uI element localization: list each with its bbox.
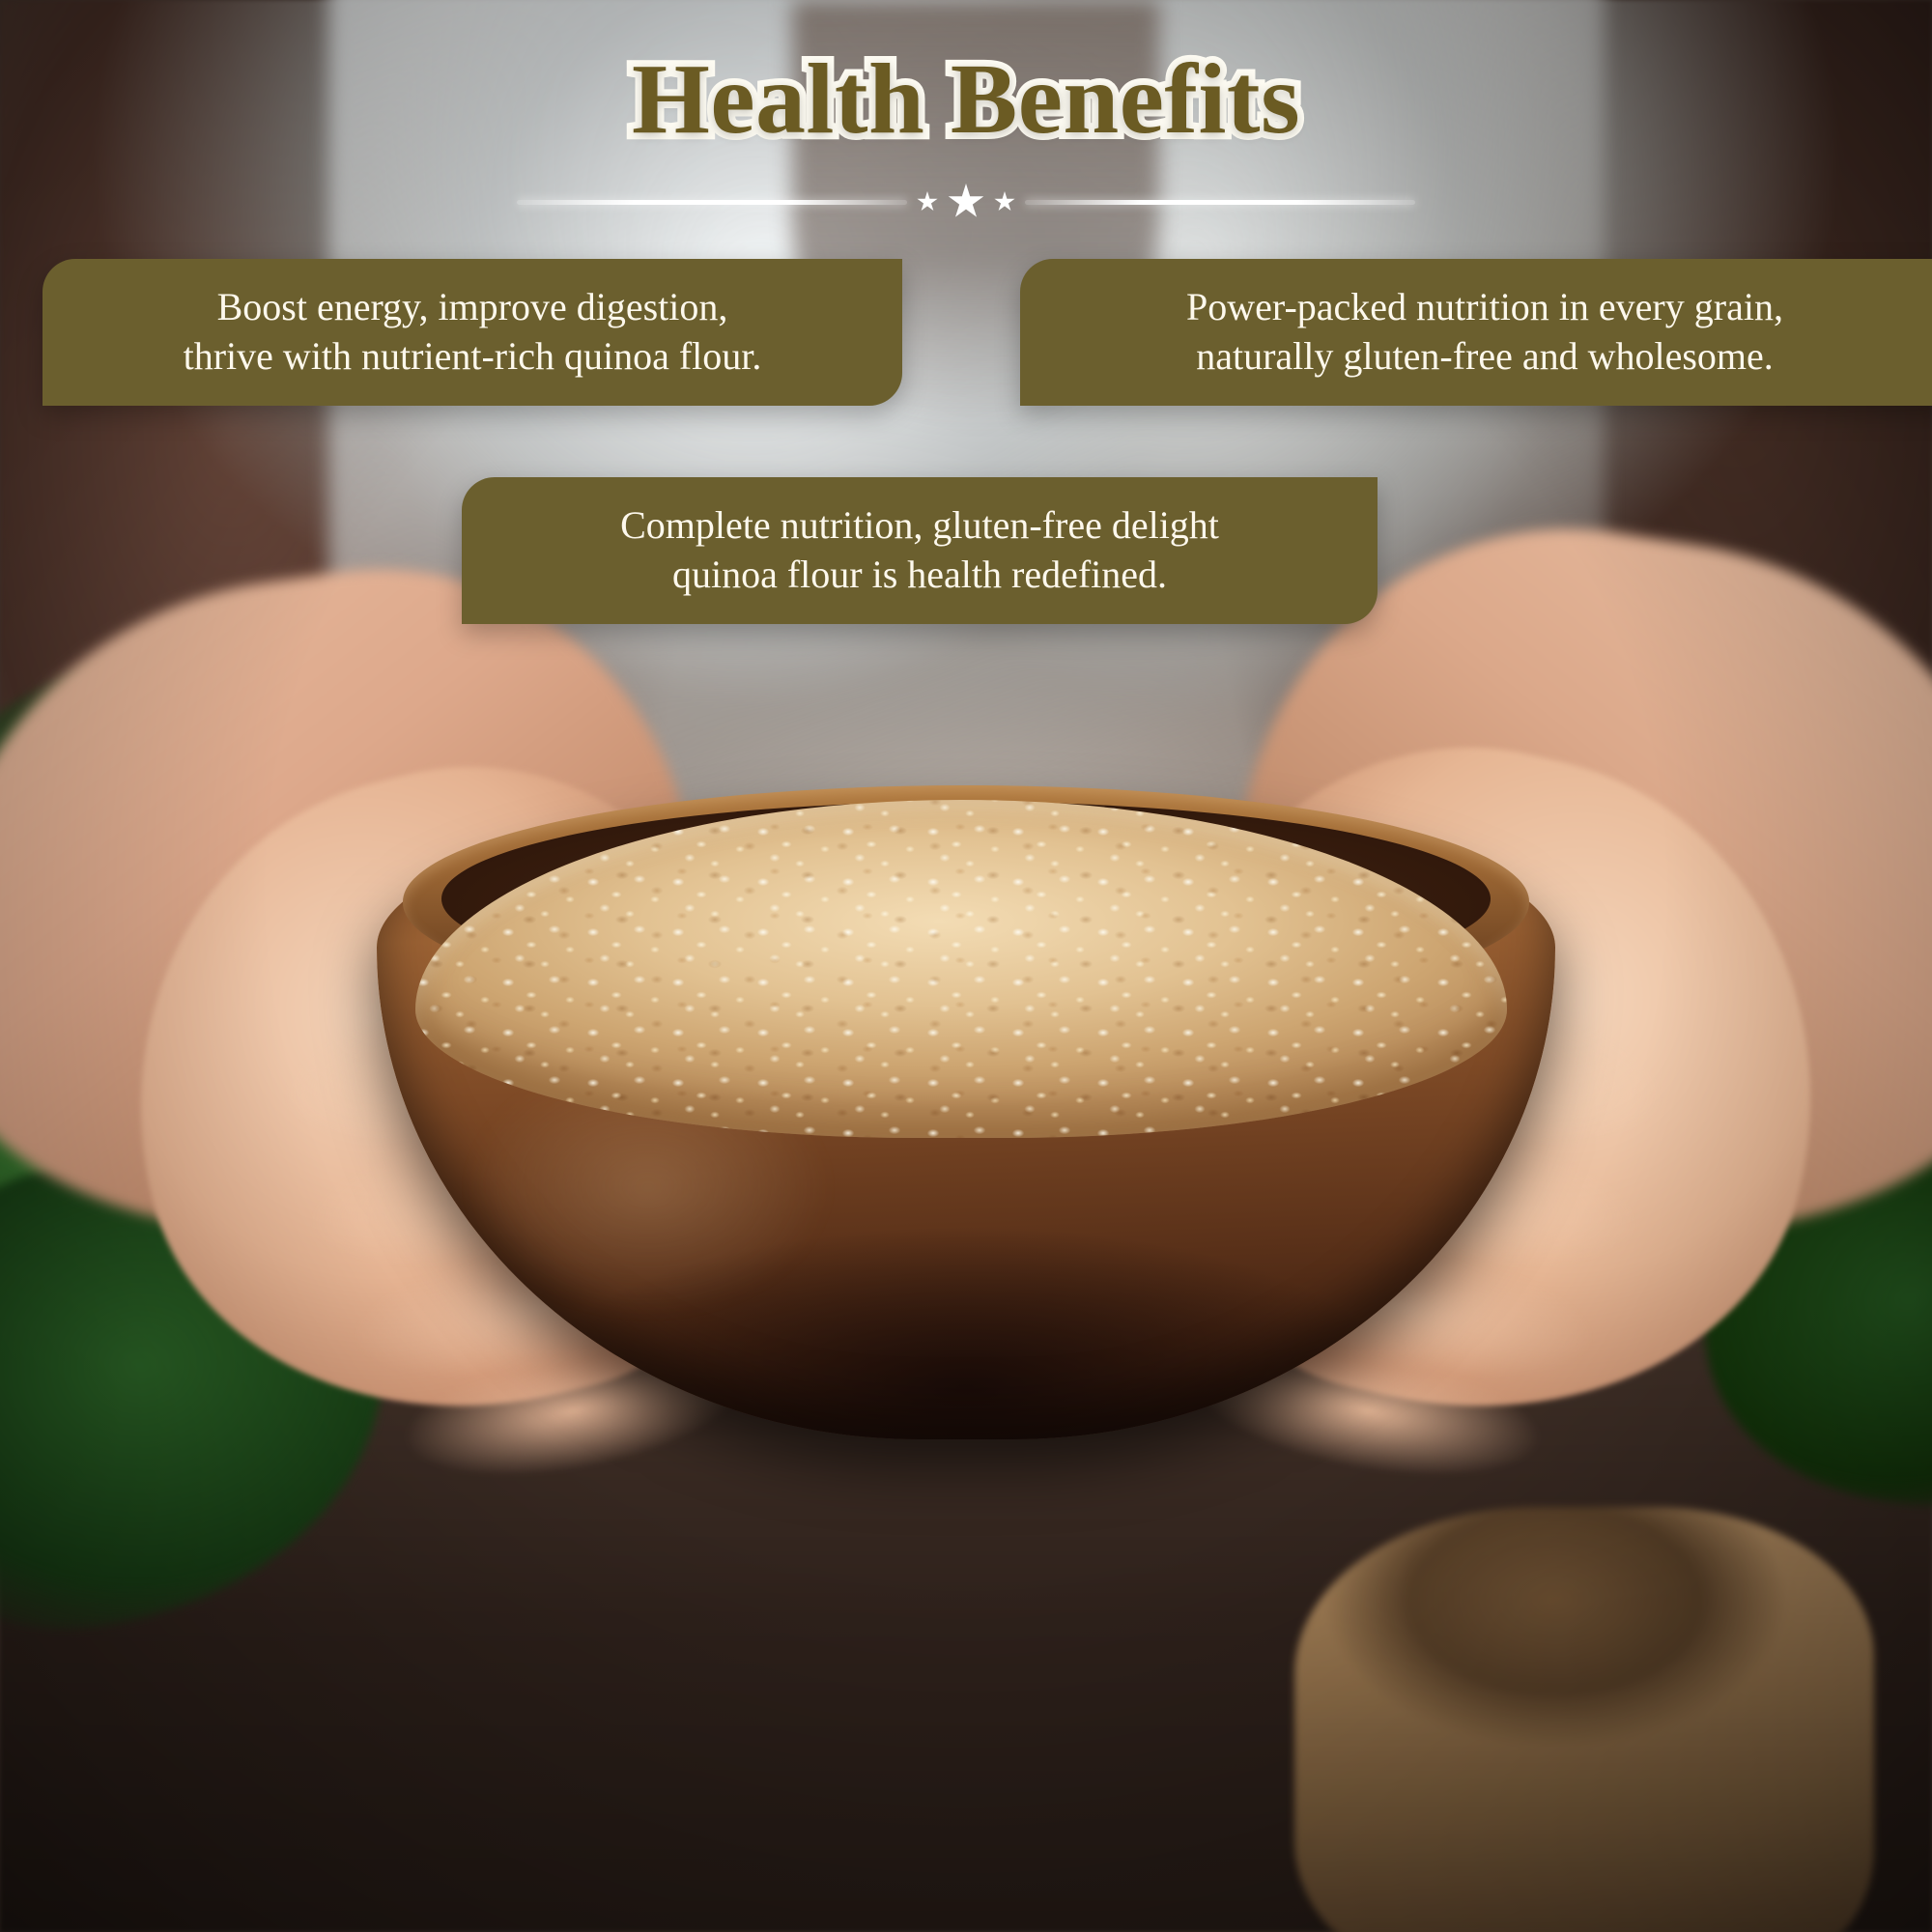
star-small-right-icon [994,191,1015,213]
page-title: Health Benefits [0,46,1932,152]
health-benefits-poster: Health Benefits Boost energy, improve di… [0,0,1932,1932]
benefit-card-2-text: Power-packed nutrition in every grain, n… [1045,282,1924,381]
benefit-card-2: Power-packed nutrition in every grain, n… [1020,259,1932,406]
benefit-card-3: Complete nutrition, gluten-free delight … [462,477,1378,624]
star-large-center-icon [948,184,984,220]
divider-line-right [1025,200,1415,205]
star-small-left-icon [917,191,938,213]
benefit-card-3-text: Complete nutrition, gluten-free delight … [487,500,1352,599]
divider-line-left [517,200,907,205]
benefit-card-1-text: Boost energy, improve digestion, thrive … [68,282,877,381]
star-divider [517,185,1415,218]
benefit-card-1: Boost energy, improve digestion, thrive … [43,259,902,406]
